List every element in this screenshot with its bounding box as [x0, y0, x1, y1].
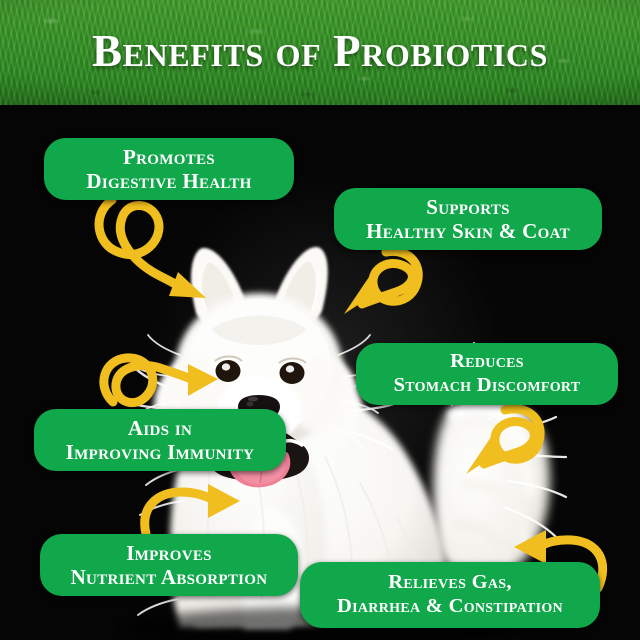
benefit-pill-nutrient[interactable]: Improves Nutrient Absorption	[40, 534, 298, 596]
benefit-pill-digestive[interactable]: Promotes Digestive Health	[44, 138, 294, 200]
benefit-line-1: Reduces	[450, 350, 524, 374]
benefit-line-2: Diarrhea & Constipation	[337, 595, 563, 619]
benefit-line-2: Improving Immunity	[66, 440, 255, 464]
benefit-line-2: Digestive Health	[86, 169, 251, 193]
benefit-line-1: Supports	[426, 195, 510, 219]
benefit-line-2: Healthy Skin & Coat	[366, 219, 570, 243]
benefit-line-2: Nutrient Absorption	[71, 565, 268, 589]
benefit-line-2: Stomach Discomfort	[394, 374, 581, 398]
benefit-pill-stomach[interactable]: Reduces Stomach Discomfort	[356, 343, 618, 405]
benefit-line-1: Promotes	[123, 145, 215, 169]
page-title: Benefits of Probiotics	[0, 0, 640, 105]
benefit-pill-skin[interactable]: Supports Healthy Skin & Coat	[334, 188, 602, 250]
benefit-pill-gas[interactable]: Relieves Gas, Diarrhea & Constipation	[300, 562, 600, 628]
benefit-line-1: Aids in	[128, 416, 192, 440]
benefit-line-1: Relieves Gas,	[388, 571, 512, 595]
infographic-poster: Benefits of Probiotics	[0, 0, 640, 640]
benefit-pill-immunity[interactable]: Aids in Improving Immunity	[34, 409, 286, 471]
benefit-line-1: Improves	[126, 541, 212, 565]
